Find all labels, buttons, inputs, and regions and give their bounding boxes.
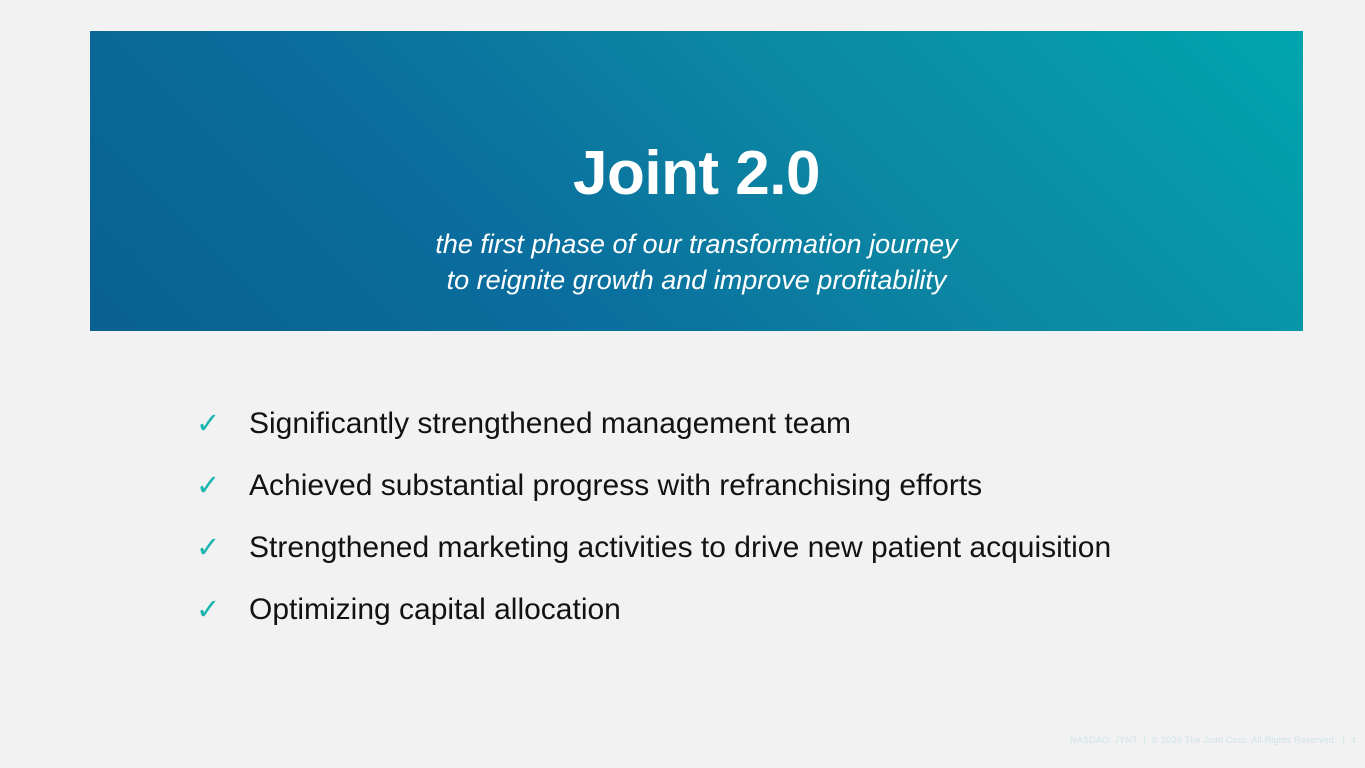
hero-subtitle: the first phase of our transformation jo… — [435, 226, 957, 298]
bullet-list: ✓ Significantly strengthened management … — [196, 409, 1246, 657]
footer-copyright: © 2026 The Joint Corp. All Rights Reserv… — [1152, 735, 1337, 745]
list-item-label: Significantly strengthened management te… — [249, 409, 1246, 439]
list-item-label: Optimizing capital allocation — [249, 595, 1246, 625]
list-item: ✓ Optimizing capital allocation — [196, 595, 1246, 657]
hero-subtitle-line-1: the first phase of our transformation jo… — [435, 226, 957, 262]
list-item-label: Strengthened marketing activities to dri… — [249, 533, 1246, 563]
footer-ticker: NASDAQ: JYNT — [1070, 735, 1138, 745]
footer-separator: | — [1140, 735, 1149, 745]
list-item: ✓ Achieved substantial progress with ref… — [196, 471, 1246, 533]
check-icon: ✓ — [196, 596, 249, 625]
slide-footer: NASDAQ: JYNT | © 2026 The Joint Corp. Al… — [1070, 734, 1356, 746]
page-title: Joint 2.0 — [573, 143, 820, 205]
check-icon: ✓ — [196, 410, 249, 439]
list-item-label: Achieved substantial progress with refra… — [249, 471, 1246, 501]
check-icon: ✓ — [196, 472, 249, 501]
footer-page-number: 4 — [1351, 735, 1356, 745]
check-icon: ✓ — [196, 534, 249, 563]
footer-separator: | — [1340, 735, 1349, 745]
hero-banner: Joint 2.0 the first phase of our transfo… — [90, 31, 1303, 331]
list-item: ✓ Significantly strengthened management … — [196, 409, 1246, 471]
hero-subtitle-line-2: to reignite growth and improve profitabi… — [435, 262, 957, 298]
list-item: ✓ Strengthened marketing activities to d… — [196, 533, 1246, 595]
